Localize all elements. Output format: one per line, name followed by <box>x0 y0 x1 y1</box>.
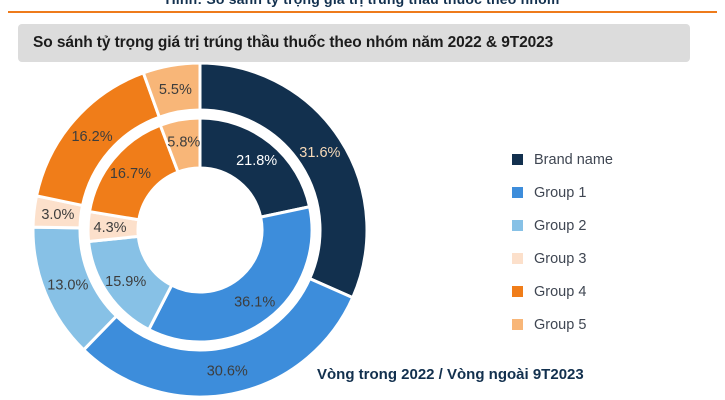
legend-swatch-icon <box>512 286 523 297</box>
donut-ring-outer-9t2023 <box>33 63 367 397</box>
slice-value-label: 16.2% <box>71 129 112 145</box>
legend-item[interactable]: Brand name <box>512 143 717 176</box>
legend-item[interactable]: Group 1 <box>512 176 717 209</box>
legend-swatch-icon <box>512 154 523 165</box>
nested-donut-svg: 31.6%30.6%13.0%3.0%16.2%5.5% 21.8%36.1%1… <box>0 62 500 400</box>
slice-value-label: 36.1% <box>234 295 275 311</box>
slice-value-label: 21.8% <box>236 153 277 169</box>
legend-item[interactable]: Group 3 <box>512 242 717 275</box>
page-title: So sánh tỷ trọng giá trị trúng thầu thuố… <box>18 34 553 52</box>
donut-chart: 31.6%30.6%13.0%3.0%16.2%5.5% 21.8%36.1%1… <box>0 62 500 400</box>
slice-value-label: 31.6% <box>299 145 340 161</box>
legend-swatch-icon <box>512 253 523 264</box>
slice-value-label: 13.0% <box>47 278 88 294</box>
legend-item-label: Group 5 <box>534 317 586 333</box>
slice-value-label: 5.8% <box>167 134 200 150</box>
slice-value-label: 5.5% <box>159 82 192 98</box>
legend-swatch-icon <box>512 187 523 198</box>
legend-item-label: Group 2 <box>534 218 586 234</box>
slice-value-label: 15.9% <box>105 274 146 290</box>
chart-title-bar: So sánh tỷ trọng giá trị trúng thầu thuố… <box>18 24 690 62</box>
legend-swatch-icon <box>512 319 523 330</box>
legend-swatch-icon <box>512 220 523 231</box>
header-divider-rule <box>8 11 717 13</box>
legend-item-label: Group 1 <box>534 185 586 201</box>
legend-item-label: Group 4 <box>534 284 586 300</box>
legend-item[interactable]: Group 4 <box>512 275 717 308</box>
slice-value-label: 16.7% <box>110 166 151 182</box>
legend-item-label: Brand name <box>534 152 613 168</box>
chart-caption: Vòng trong 2022 / Vòng ngoài 9T2023 <box>317 366 584 383</box>
legend-item[interactable]: Group 2 <box>512 209 717 242</box>
slice-value-label: 30.6% <box>207 363 248 379</box>
slice-value-label: 3.0% <box>41 207 74 223</box>
chart-legend: Brand nameGroup 1Group 2Group 3Group 4Gr… <box>512 143 717 341</box>
slice-value-label: 4.3% <box>94 220 127 236</box>
legend-item[interactable]: Group 5 <box>512 308 717 341</box>
legend-item-label: Group 3 <box>534 251 586 267</box>
clipped-header-text: Hình: So sánh tỷ trọng giá trị trúng thầ… <box>0 0 725 9</box>
